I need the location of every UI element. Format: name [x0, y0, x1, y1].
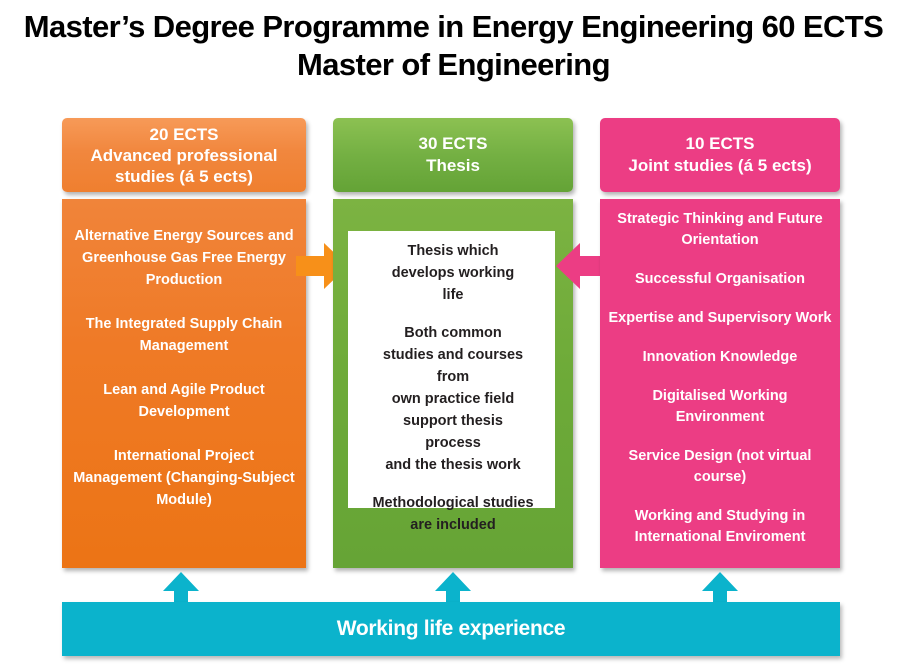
thesis-line: Thesis which	[333, 240, 573, 262]
spacer	[333, 306, 573, 322]
list-item: Innovation Knowledge	[608, 347, 832, 368]
advanced-studies-body: Alternative Energy Sources and Greenhous…	[62, 199, 306, 568]
title-line-1: Master’s Degree Programme in Energy Engi…	[0, 8, 907, 46]
joint-studies-body: Strategic Thinking and Future Orientatio…	[600, 199, 840, 568]
thesis-title: Thesis	[419, 155, 488, 177]
thesis-line: life	[333, 284, 573, 306]
advanced-studies-ects: 20 ECTS	[90, 124, 277, 145]
joint-studies-ects: 10 ECTS	[628, 133, 811, 155]
list-item: International Project Management (Changi…	[72, 445, 296, 511]
page-title: Master’s Degree Programme in Energy Engi…	[0, 8, 907, 84]
advanced-studies-header: 20 ECTS Advanced professional studies (á…	[62, 118, 306, 192]
thesis-description: Thesis which develops working life Both …	[333, 240, 573, 536]
working-life-experience-bar: Working life experience	[62, 602, 840, 656]
thesis-paragraph-2: Both common studies and courses from own…	[333, 322, 573, 476]
thesis-line: support thesis	[333, 410, 573, 432]
thesis-ects: 30 ECTS	[419, 133, 488, 155]
thesis-line: and the thesis work	[333, 454, 573, 476]
list-item: Expertise and Supervisory Work	[608, 308, 832, 329]
thesis-line: process	[333, 432, 573, 454]
joint-studies-title: Joint studies (á 5 ects)	[628, 155, 811, 177]
title-line-2: Master of Engineering	[0, 46, 907, 84]
advanced-studies-title-line-2: studies (á 5 ects)	[90, 166, 277, 187]
advanced-studies-title-line-1: Advanced professional	[90, 145, 277, 166]
thesis-line: studies and courses	[333, 344, 573, 366]
thesis-line: develops working	[333, 262, 573, 284]
thesis-line: Methodological studies	[333, 492, 573, 514]
spacer	[333, 476, 573, 492]
list-item: Digitalised Working Environment	[608, 386, 832, 428]
joint-studies-header: 10 ECTS Joint studies (á 5 ects)	[600, 118, 840, 192]
list-item: The Integrated Supply Chain Management	[72, 313, 296, 357]
thesis-line: from	[333, 366, 573, 388]
list-item: Lean and Agile Product Development	[72, 379, 296, 423]
thesis-paragraph-1: Thesis which develops working life	[333, 240, 573, 306]
thesis-line: Both common	[333, 322, 573, 344]
list-item: Strategic Thinking and Future Orientatio…	[608, 209, 832, 251]
list-item: Working and Studying in International En…	[608, 506, 832, 548]
list-item: Service Design (not virtual course)	[608, 446, 832, 488]
list-item: Alternative Energy Sources and Greenhous…	[72, 225, 296, 291]
thesis-line: own practice field	[333, 388, 573, 410]
thesis-header: 30 ECTS Thesis	[333, 118, 573, 192]
thesis-paragraph-3: Methodological studies are included	[333, 492, 573, 536]
thesis-line: are included	[333, 514, 573, 536]
working-life-experience-label: Working life experience	[337, 617, 565, 641]
diagram-canvas: Master’s Degree Programme in Energy Engi…	[0, 0, 907, 664]
list-item: Successful Organisation	[608, 269, 832, 290]
